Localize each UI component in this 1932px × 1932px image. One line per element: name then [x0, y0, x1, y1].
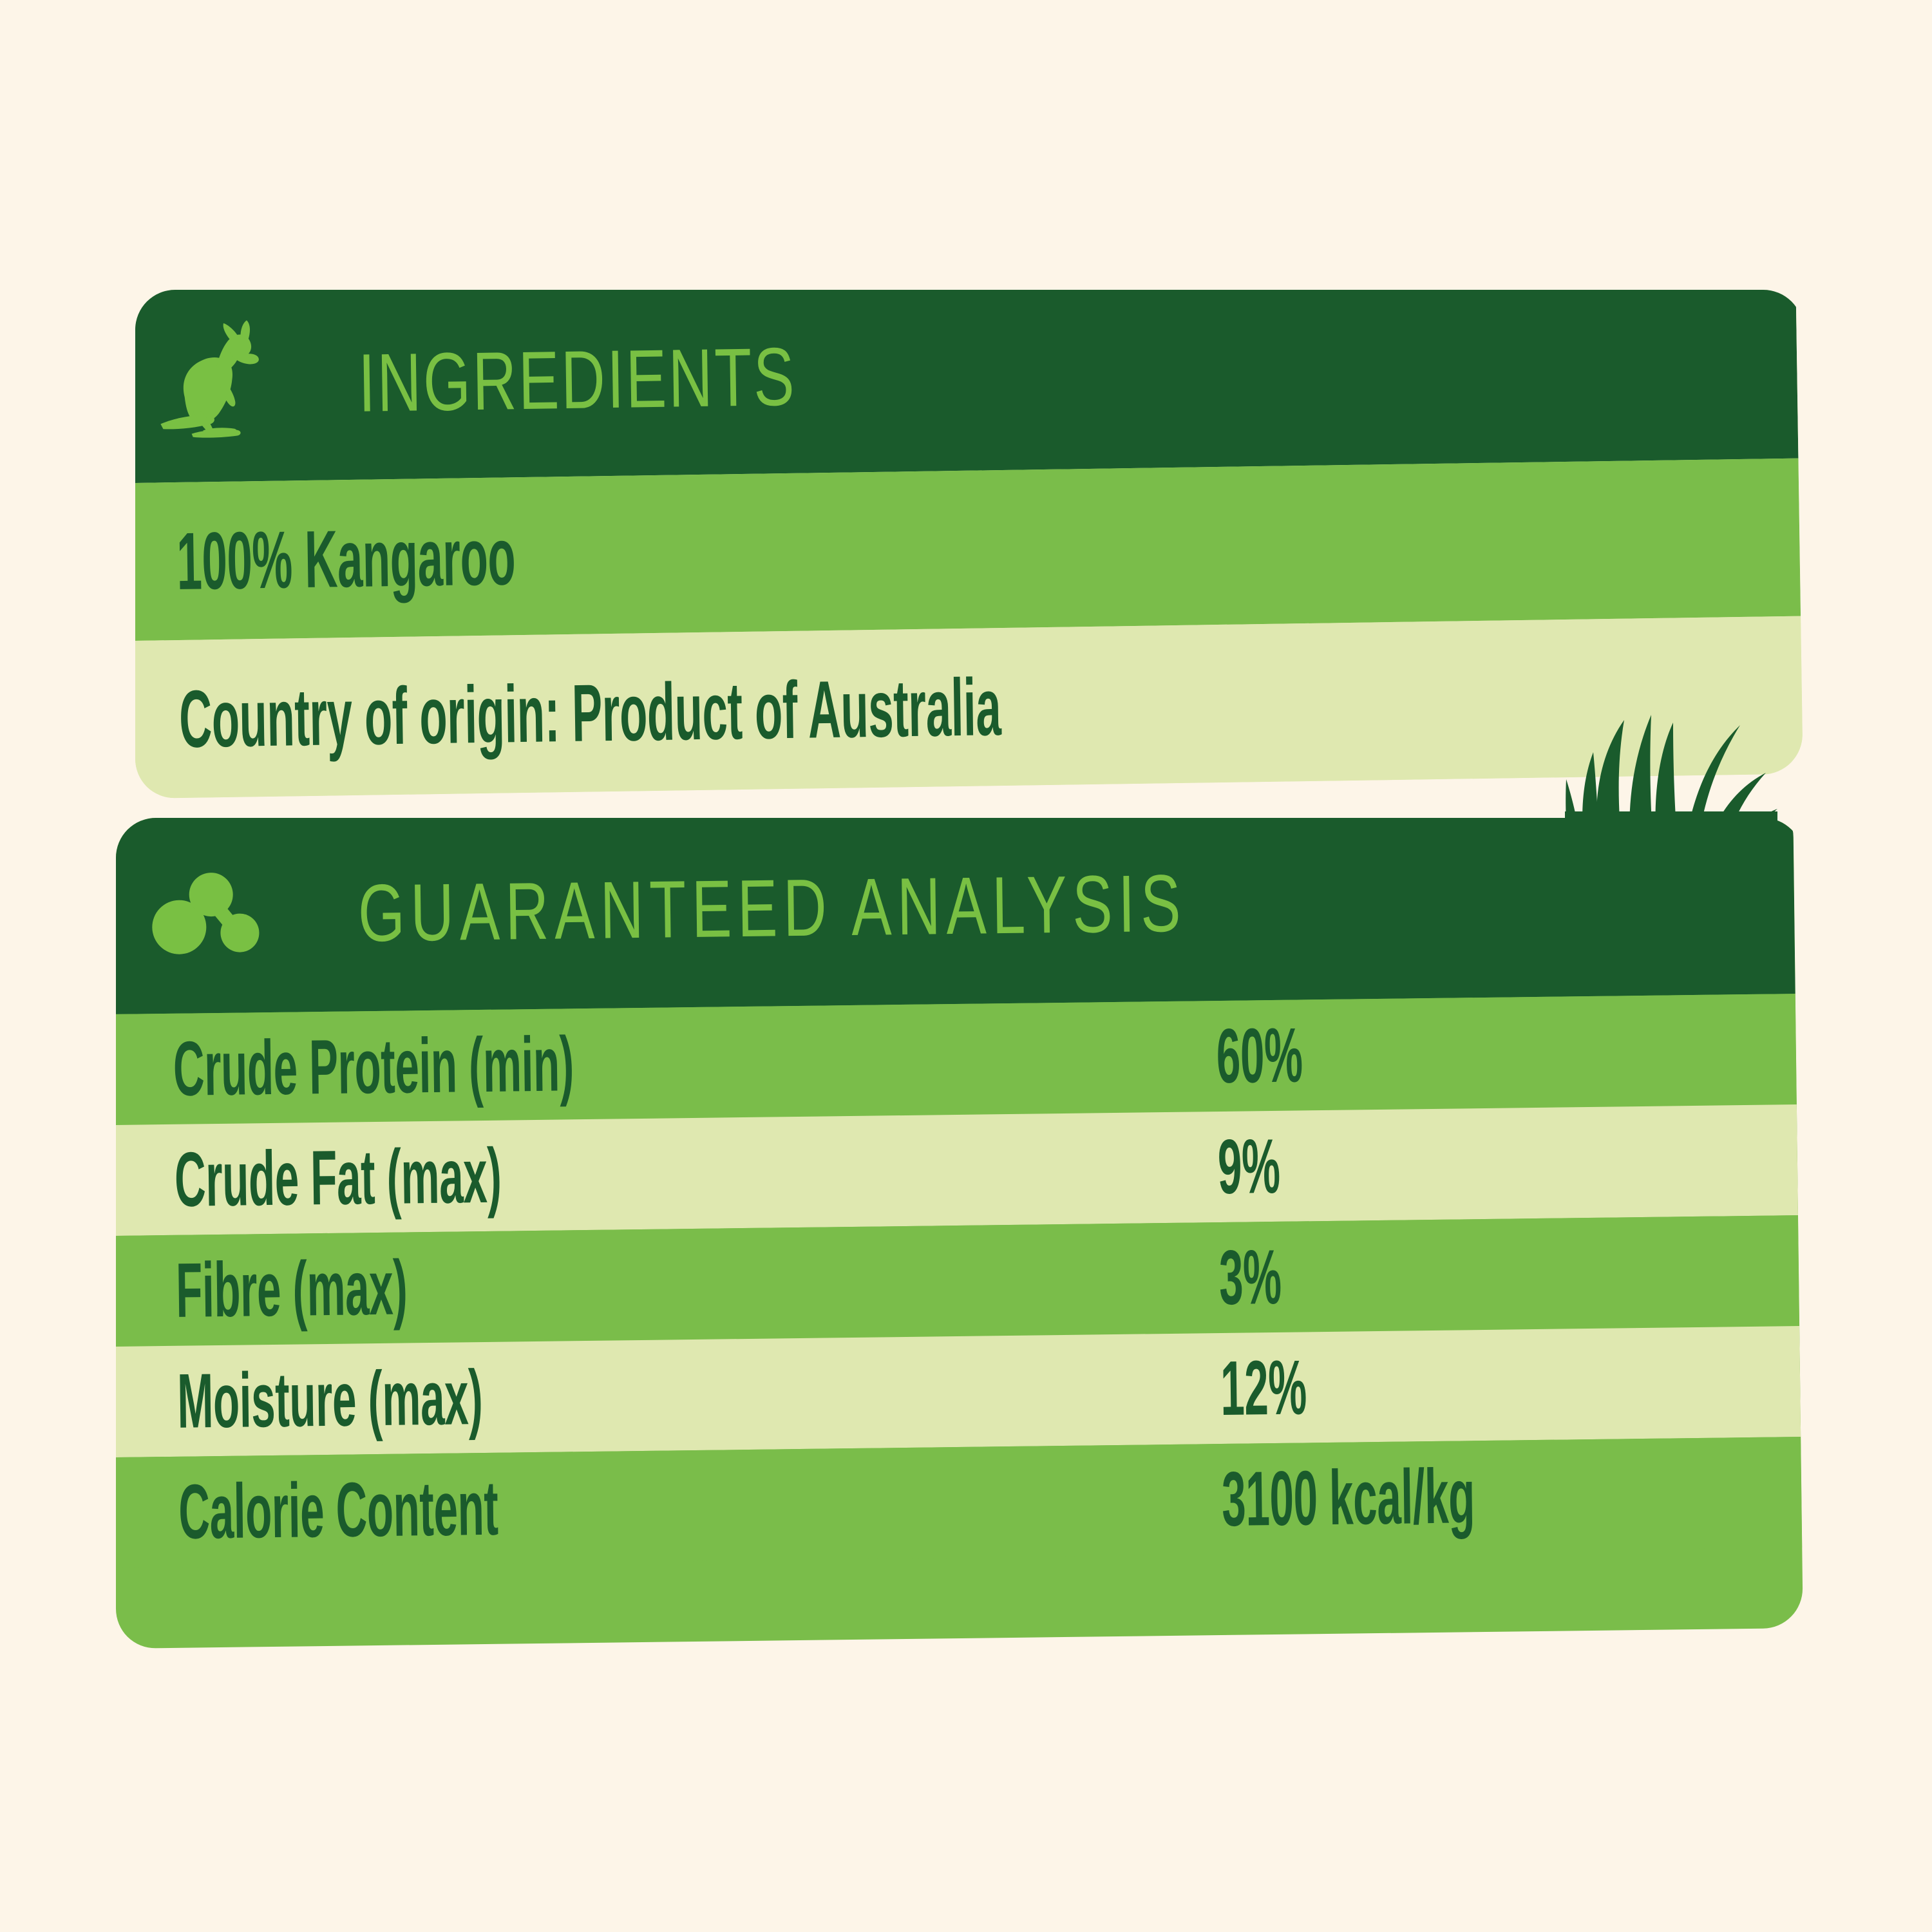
- kangaroo-icon: [154, 320, 285, 451]
- label-artwork: INGREDIENTS 100% Kangaroo Country of ori…: [0, 0, 1932, 1932]
- analysis-row-label: Moisture (max): [176, 1350, 740, 1446]
- analysis-row-label: Fibre (max): [175, 1239, 739, 1335]
- analysis-row: Calorie Content 3100 kcal/kg: [116, 1437, 1802, 1568]
- analysis-row: Fibre (max) 3%: [116, 1215, 1799, 1347]
- analysis-row-value: 3100 kcal/kg: [1221, 1452, 1475, 1544]
- molecule-icon: [145, 849, 275, 980]
- guaranteed-analysis-card: GUARANTEED ANALYSIS Crude Protein (min) …: [116, 818, 1803, 1649]
- ingredient-row-label: Country of origin: Product of Australia: [178, 660, 1001, 766]
- ingredients-header: INGREDIENTS: [135, 290, 1798, 483]
- ingredients-title: INGREDIENTS: [357, 329, 797, 430]
- analysis-row-value: 60%: [1216, 1010, 1303, 1101]
- ingredient-row: 100% Kangaroo: [135, 459, 1801, 641]
- analysis-row-value: 12%: [1220, 1343, 1307, 1433]
- grass-tuft-icon: [1565, 683, 1777, 869]
- analysis-row: Moisture (max) 12%: [116, 1326, 1801, 1457]
- analysis-row-label: Crude Fat (max): [174, 1128, 737, 1224]
- analysis-row-value: 9%: [1217, 1122, 1280, 1211]
- ingredient-row: Country of origin: Product of Australia: [135, 616, 1803, 799]
- analysis-row-label: Calorie Content: [178, 1461, 742, 1557]
- ingredient-row-label: 100% Kangaroo: [176, 509, 516, 608]
- analysis-row-value: 3%: [1218, 1233, 1282, 1322]
- ingredients-card: INGREDIENTS 100% Kangaroo Country of ori…: [135, 290, 1803, 799]
- analysis-row-label: Crude Protein (min): [173, 1018, 736, 1113]
- guaranteed-analysis-title: GUARANTEED ANALYSIS: [357, 857, 1187, 960]
- analysis-row: Crude Fat (max) 9%: [116, 1104, 1798, 1236]
- analysis-row: Crude Protein (min) 60%: [116, 994, 1797, 1125]
- guaranteed-analysis-header: GUARANTEED ANALYSIS: [116, 818, 1795, 1014]
